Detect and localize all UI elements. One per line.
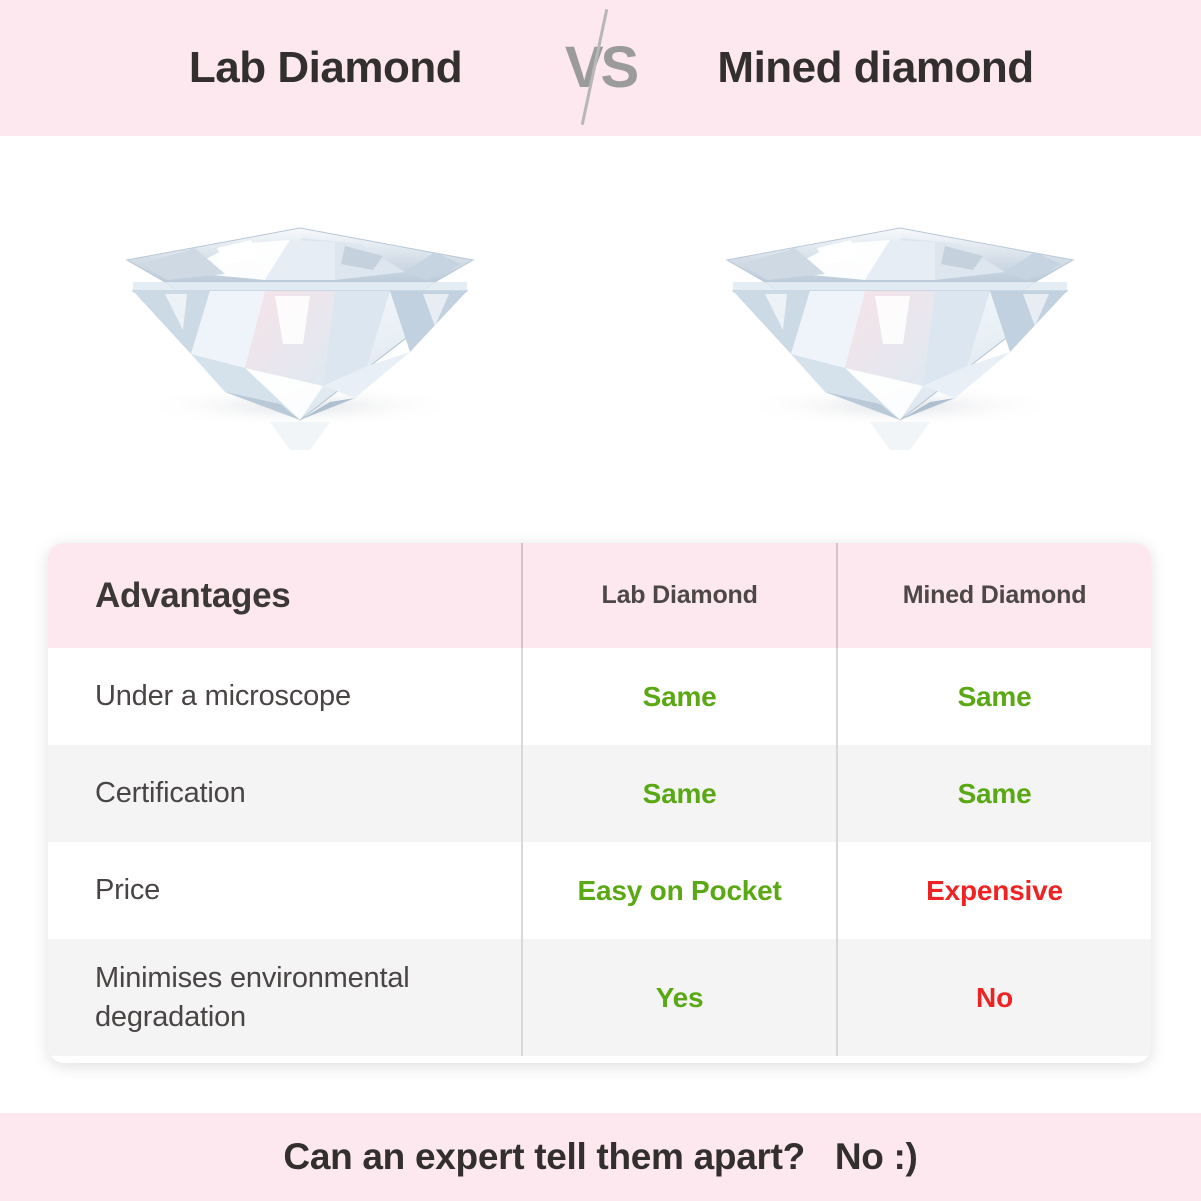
- versus-label: VS: [565, 39, 636, 97]
- footer-question-answer: Can an expert tell them apart? No :): [283, 1136, 917, 1178]
- header-label-mined: Mined Diamond: [903, 581, 1087, 610]
- diamond-icon: [105, 154, 495, 454]
- header-title-mined: Mined diamond: [661, 43, 1091, 93]
- row-lab-value: Same: [643, 778, 717, 810]
- diamond-showcase: [0, 136, 1201, 536]
- diamond-icon: [705, 154, 1095, 454]
- row-mined-cell: Same: [836, 648, 1151, 745]
- header-cell-mined: Mined Diamond: [836, 543, 1151, 648]
- row-mined-value: Same: [958, 681, 1032, 713]
- header-label-advantages: Advantages: [95, 576, 290, 616]
- row-lab-cell: Same: [521, 648, 836, 745]
- row-feature-label: Price: [95, 871, 160, 909]
- header-title-lab: Lab Diamond: [111, 43, 541, 93]
- row-feature-cell: Minimises environmental degradation: [48, 939, 521, 1056]
- row-feature-label: Minimises environmental degradation: [95, 959, 507, 1036]
- header-cell-advantages: Advantages: [48, 543, 521, 648]
- row-mined-cell: No: [836, 939, 1151, 1056]
- row-feature-cell: Under a microscope: [48, 648, 521, 745]
- row-lab-value: Yes: [656, 982, 704, 1014]
- row-mined-value: Expensive: [926, 875, 1063, 907]
- footer-band: Can an expert tell them apart? No :): [0, 1113, 1201, 1201]
- table-header-row: Advantages Lab Diamond Mined Diamond: [48, 543, 1151, 648]
- row-feature-cell: Certification: [48, 745, 521, 842]
- header-cell-lab: Lab Diamond: [521, 543, 836, 648]
- row-mined-value: Same: [958, 778, 1032, 810]
- row-mined-cell: Same: [836, 745, 1151, 842]
- row-feature-cell: Price: [48, 842, 521, 939]
- table-row: Price Easy on Pocket Expensive: [48, 842, 1151, 939]
- header-band: Lab Diamond VS Mined diamond: [0, 0, 1201, 136]
- row-lab-cell: Same: [521, 745, 836, 842]
- comparison-table: Advantages Lab Diamond Mined Diamond Und…: [48, 543, 1151, 1063]
- lab-diamond-image: [0, 136, 600, 536]
- mined-diamond-image: [600, 136, 1200, 536]
- row-lab-value: Easy on Pocket: [578, 875, 782, 907]
- row-mined-cell: Expensive: [836, 842, 1151, 939]
- row-lab-cell: Easy on Pocket: [521, 842, 836, 939]
- row-feature-label: Certification: [95, 774, 246, 812]
- table-row: Certification Same Same: [48, 745, 1151, 842]
- row-lab-value: Same: [643, 681, 717, 713]
- table-row: Minimises environmental degradation Yes …: [48, 939, 1151, 1056]
- header-label-lab: Lab Diamond: [602, 581, 758, 610]
- versus-badge: VS: [541, 0, 661, 136]
- row-mined-value: No: [976, 982, 1013, 1014]
- row-feature-label: Under a microscope: [95, 677, 351, 715]
- table-row: Under a microscope Same Same: [48, 648, 1151, 745]
- row-lab-cell: Yes: [521, 939, 836, 1056]
